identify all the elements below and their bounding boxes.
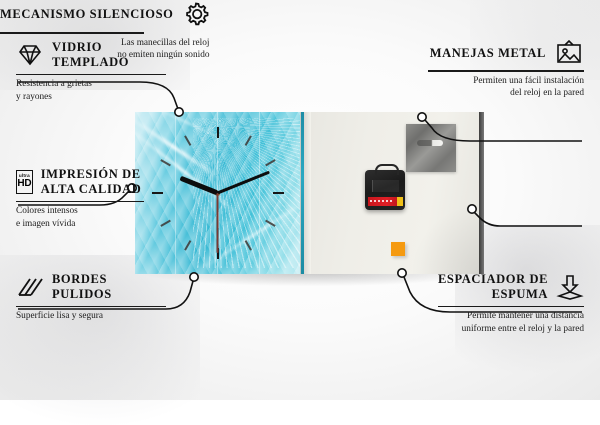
connector-mecanismo — [474, 212, 582, 226]
feature-description: Permite mantener una distancia uniforme … — [438, 310, 584, 335]
arrow-down-pad-icon — [556, 274, 584, 300]
feature-title: IMPRESIÓN DE ALTA CALIDAD — [41, 167, 156, 197]
connector-dot-bordes — [190, 273, 198, 281]
feature-bordes-pulidos: BORDES PULIDOS Superficie lisa y segura — [16, 272, 166, 323]
connector-dot-mecanismo — [468, 205, 476, 213]
feature-rule — [428, 70, 584, 72]
feature-header: MANEJAS METAL — [428, 40, 584, 66]
feature-description: Las manecillas del reloj no emiten ningú… — [0, 37, 210, 62]
feature-header: MECANISMO SILENCIOSO — [0, 0, 210, 28]
feature-rule — [16, 306, 166, 308]
connector-dot-manejas — [418, 113, 426, 121]
feature-header: ultra HD IMPRESIÓN DE ALTA CALIDAD — [16, 167, 156, 197]
feature-manejas-metal: MANEJAS METAL Permiten una fácil instala… — [428, 40, 584, 100]
gear-icon — [182, 0, 210, 28]
feature-description: Resistencia a grietas y rayones — [16, 78, 166, 103]
feature-espaciador-espuma: ESPACIADOR DE ESPUMA Permite mantener un… — [438, 272, 584, 335]
feature-title: MANEJAS METAL — [430, 46, 546, 61]
connector-manejas — [425, 120, 582, 141]
feature-title: ESPACIADOR DE ESPUMA — [438, 272, 548, 302]
connector-dot-espaciador — [398, 269, 406, 277]
polished-edges-icon — [16, 276, 44, 298]
ultra-hd-badge-icon: ultra HD — [16, 170, 33, 194]
feature-description: Superficie lisa y segura — [16, 310, 166, 323]
feature-rule — [16, 74, 166, 76]
feature-rule — [0, 32, 144, 34]
feature-rule — [438, 306, 584, 308]
feature-description: Permiten una fácil instalación del reloj… — [428, 75, 584, 100]
wall-mount-frame-icon — [554, 40, 584, 66]
feature-rule — [16, 201, 144, 203]
hd-badge-big-text: HD — [17, 179, 31, 189]
connector-dot-vidrio-templado — [175, 108, 183, 116]
infographic-canvas: VIDRIO TEMPLADO Resistencia a grietas y … — [0, 0, 600, 400]
feature-header: BORDES PULIDOS — [16, 272, 166, 302]
feature-header: ESPACIADOR DE ESPUMA — [438, 272, 584, 302]
feature-description: Colores intensos e imagen vívida — [16, 205, 156, 230]
feature-mecanismo-silencioso: MECANISMO SILENCIOSO Las manecillas del … — [0, 0, 210, 62]
feature-title: BORDES PULIDOS — [52, 272, 166, 302]
feature-title: MECANISMO SILENCIOSO — [0, 7, 174, 22]
feature-impresion-alta-calidad: ultra HD IMPRESIÓN DE ALTA CALIDAD Color… — [16, 167, 156, 230]
